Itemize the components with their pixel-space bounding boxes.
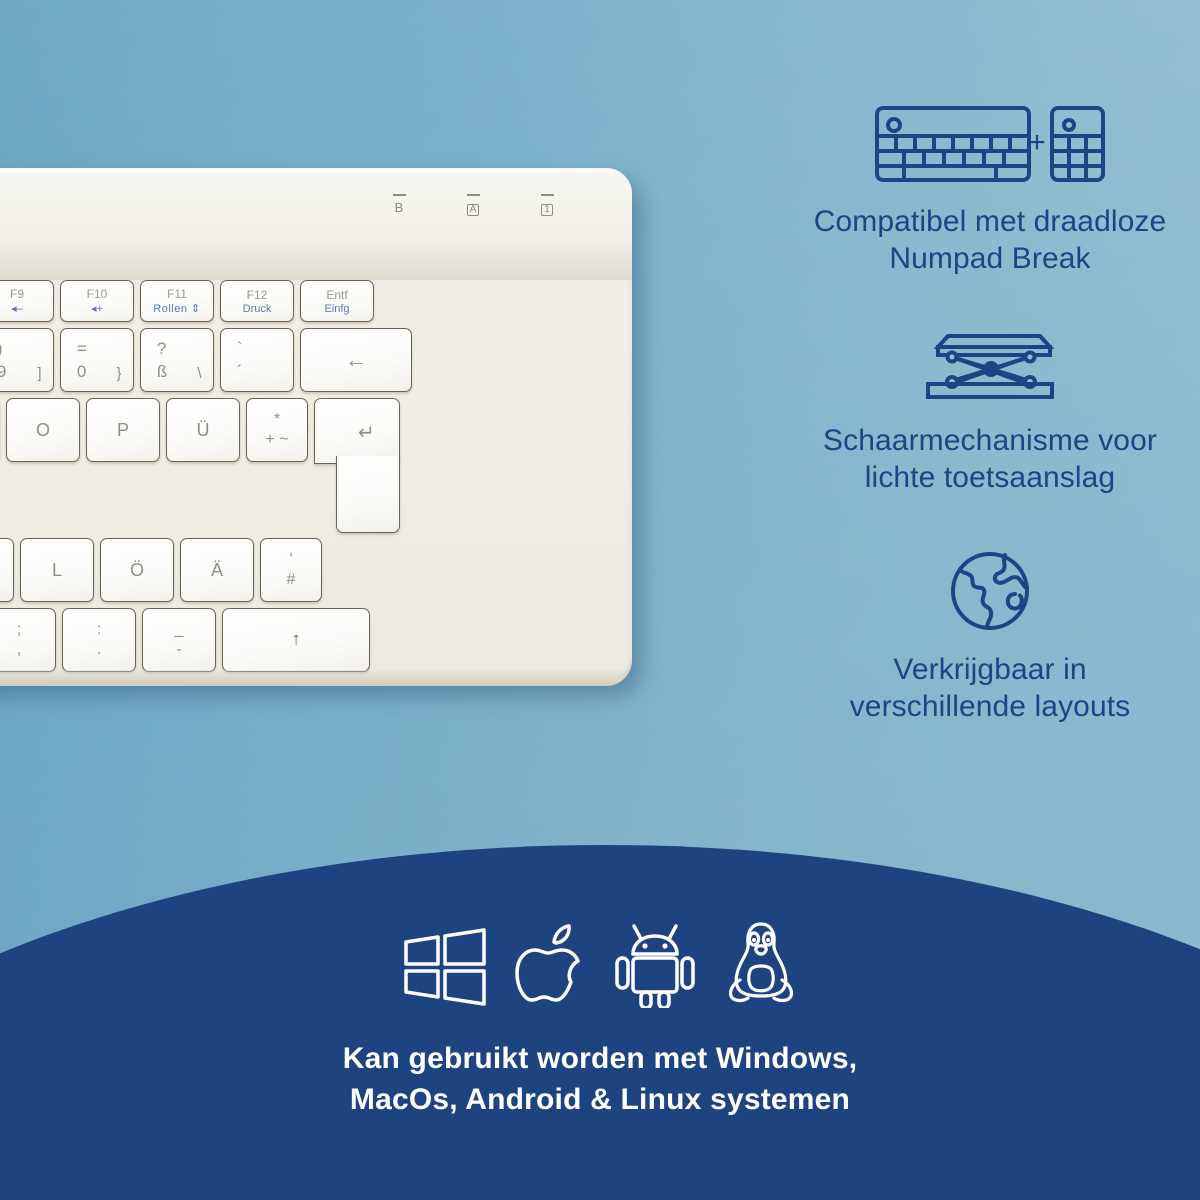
key-ouml: Ö xyxy=(100,538,174,602)
key-k: K xyxy=(0,538,14,602)
key-enter: ↵ xyxy=(314,398,398,532)
number-key-row: & 6 / 7 { ( 8 xyxy=(0,328,418,392)
scissor-mechanism-icon xyxy=(780,331,1200,403)
key-p: P xyxy=(86,398,160,462)
key-entf-einfg: Entf Einfg xyxy=(300,280,374,322)
keyboard-top-highlight xyxy=(0,170,632,172)
key-eszett: ? ß \ xyxy=(140,328,214,392)
status-indicator-group: B A 1 xyxy=(388,194,558,216)
key-plus: * + ~ xyxy=(246,398,308,462)
indicator-bar xyxy=(393,194,406,196)
key-0: = 0 } xyxy=(60,328,134,392)
banner-caption: Kan gebruikt worden met Windows, MacOs, … xyxy=(0,1039,1200,1120)
key-o: O xyxy=(6,398,80,462)
key-backspace: ← xyxy=(300,328,412,392)
feature-layouts: Verkrijgbaar in verschillende layouts xyxy=(780,550,1200,725)
key-f12: F12 Druck xyxy=(220,280,294,322)
key-hash: ' # xyxy=(260,538,322,602)
os-logo-row xyxy=(0,920,1200,1013)
caps-lock-indicator: A xyxy=(462,194,484,216)
key-f10: F10 ◂+ xyxy=(60,280,134,322)
enter-lower-part xyxy=(336,456,400,533)
feature-caption: Compatibel met draadloze Numpad Break xyxy=(780,204,1200,277)
num-lock-indicator: 1 xyxy=(536,194,558,216)
key-uuml: Ü xyxy=(166,398,240,462)
key-comma: ; , xyxy=(0,608,56,672)
feature-wireless-numpad: + Compatibel met draadloze Numpad Break xyxy=(780,104,1200,277)
feature-caption: Verkrijgbaar in verschillende layouts xyxy=(780,652,1200,725)
indicator-bar xyxy=(467,194,480,196)
keyboard-top-bezel xyxy=(0,168,632,280)
linux-tux-logo xyxy=(724,920,798,1013)
key-period: : . xyxy=(62,608,136,672)
keyboard-bottom-edge xyxy=(0,670,632,686)
key-l: L xyxy=(20,538,94,602)
apple-logo xyxy=(514,924,586,1013)
globe-icon xyxy=(780,550,1200,632)
enter-upper-part xyxy=(314,398,400,464)
android-logo xyxy=(612,922,698,1013)
feature-list: + Compatibel met draadloze Numpad Break xyxy=(780,104,1200,780)
key-shift-right: ⭡ xyxy=(222,608,370,672)
key-9: ) 9 ] xyxy=(0,328,54,392)
key-minus: _ - xyxy=(142,608,216,672)
yxcv-key-row: V B N Mµ ; , : xyxy=(0,608,418,672)
keyboard-product-photo: B A 1 F6 ▶‖ xyxy=(0,168,635,690)
infographic-canvas: B A 1 F6 ▶‖ xyxy=(0,0,1200,1200)
keyboard-body: B A 1 F6 ▶‖ xyxy=(0,168,632,686)
feature-caption: Schaarmechanisme voor lichte toetsaansla… xyxy=(780,423,1200,496)
os-compatibility-banner: Kan gebruikt worden met Windows, MacOs, … xyxy=(0,920,1200,1120)
bluetooth-indicator: B xyxy=(388,194,410,216)
asdf-key-row: G H J K L Ö Ä ' xyxy=(0,538,418,602)
plus-symbol: + xyxy=(1028,126,1046,159)
qwertz-key-row: T Z U I O P Ü * xyxy=(0,398,418,532)
key-f11: F11 Rollen ⇕ xyxy=(140,280,214,322)
key-auml: Ä xyxy=(180,538,254,602)
keyboard-key-grid: F6 ▶‖ F7 ▶| F8 🔇 F9 ◂– xyxy=(0,280,418,686)
function-key-row: F6 ▶‖ F7 ▶| F8 🔇 F9 ◂– xyxy=(0,280,418,322)
key-acute: ` ´ xyxy=(220,328,294,392)
keyboard-plus-numpad-icon: + xyxy=(780,104,1200,184)
key-f9: F9 ◂– xyxy=(0,280,54,322)
indicator-bar xyxy=(541,194,554,196)
feature-scissor-mechanism: Schaarmechanisme voor lichte toetsaansla… xyxy=(780,331,1200,496)
windows-logo xyxy=(402,926,488,1013)
